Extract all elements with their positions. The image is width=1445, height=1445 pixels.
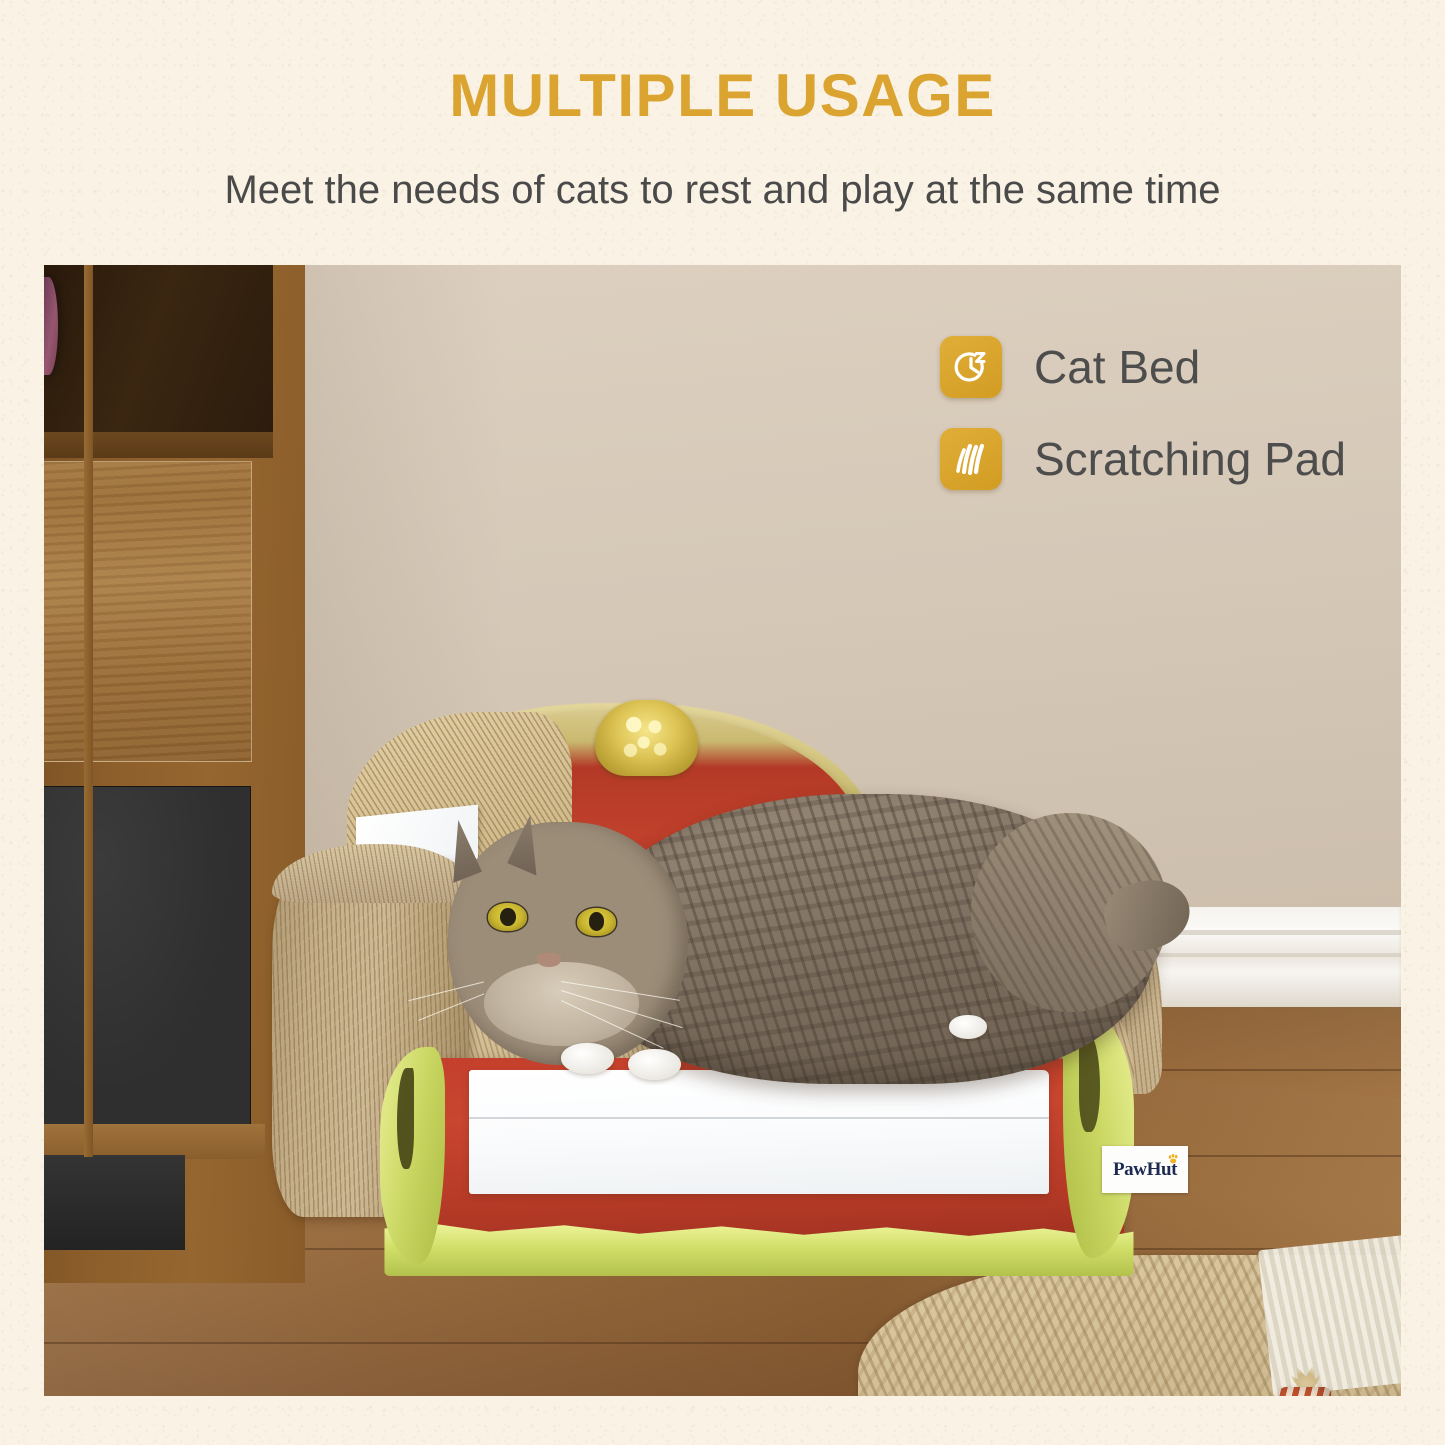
feature-label: Cat Bed (1034, 344, 1200, 390)
sofa-left-trim-scroll (380, 1047, 446, 1265)
sofa-gold-crest (595, 700, 698, 776)
page-title: MULTIPLE USAGE (0, 66, 1445, 126)
paw-print-icon (1168, 1154, 1180, 1164)
cabinet-drawer (44, 461, 252, 761)
cabinet-dark-panel (44, 786, 251, 1130)
cat-eye-left (488, 903, 528, 931)
sleep-clock-icon (940, 336, 1002, 398)
toy-rope-body (1279, 1387, 1331, 1396)
sisal-cat-toy (1279, 1365, 1331, 1396)
marketing-banner: MULTIPLE USAGE Meet the needs of cats to… (0, 0, 1445, 1445)
cabinet-base-rail (44, 1124, 265, 1159)
cat-pupil (500, 908, 516, 926)
sofa-bottom-scallop-trim (384, 1223, 1133, 1276)
brand-name: PawHut (1113, 1159, 1177, 1181)
cat-muzzle (484, 962, 639, 1046)
cabinet-side-edge (84, 265, 93, 1157)
feature-label: Scratching Pad (1034, 436, 1346, 482)
cabinet-open-shelf (44, 265, 273, 443)
feature-item-scratching-pad: Scratching Pad (940, 428, 1346, 490)
cat-paw (561, 1043, 614, 1074)
brand-label: PawHut (1102, 1146, 1188, 1193)
scratch-marks-icon (940, 428, 1002, 490)
cat (448, 794, 1154, 1105)
feature-item-cat-bed: Cat Bed (940, 336, 1346, 398)
page-subtitle: Meet the needs of cats to rest and play … (0, 168, 1445, 212)
cat-paw (628, 1049, 681, 1080)
feature-list: Cat Bed Scratching Pad (940, 336, 1346, 520)
header: MULTIPLE USAGE Meet the needs of cats to… (0, 0, 1445, 265)
cat-paw (949, 1015, 987, 1039)
wooden-cabinet (44, 265, 305, 1283)
cat-ear-right (507, 815, 538, 878)
cabinet-plinth (44, 1155, 185, 1251)
cat-nose (537, 953, 561, 967)
cat-eye-right (577, 908, 617, 936)
cabinet-shelf-board (44, 432, 273, 458)
cat-pupil (589, 912, 605, 930)
cat-ear-left (451, 820, 482, 883)
